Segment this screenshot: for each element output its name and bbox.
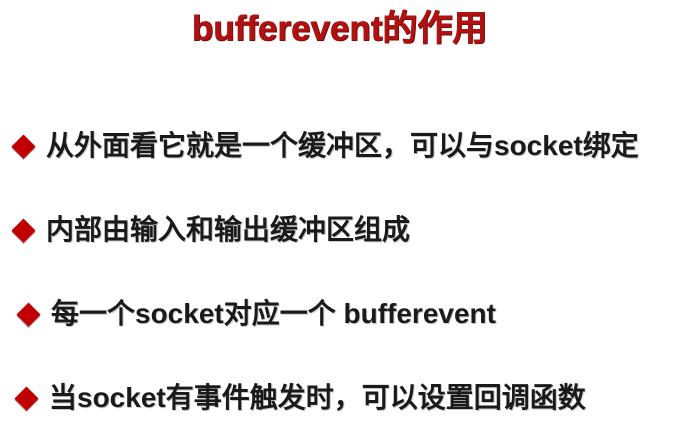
- page-title: bufferevent的作用: [0, 6, 679, 52]
- list-item: 从外面看它就是一个缓冲区，可以与socket绑定: [0, 104, 679, 188]
- red-diamond-bullet-icon: [14, 386, 38, 410]
- list-item-label: 从外面看它就是一个缓冲区，可以与socket绑定: [46, 129, 679, 163]
- list-item-label: 每一个socket对应一个 bufferevent: [51, 297, 679, 331]
- red-diamond-bullet-icon: [16, 302, 40, 326]
- bullet-list: 从外面看它就是一个缓冲区，可以与socket绑定 内部由输入和输出缓冲区组成 每…: [0, 104, 679, 440]
- red-diamond-bullet-icon: [11, 218, 35, 242]
- list-item-label: 内部由输入和输出缓冲区组成: [46, 213, 679, 247]
- list-item: 每一个socket对应一个 bufferevent: [0, 272, 679, 356]
- red-diamond-bullet-icon: [11, 134, 35, 158]
- presentation-slide: bufferevent的作用 从外面看它就是一个缓冲区，可以与socket绑定 …: [0, 0, 679, 433]
- list-item: 内部由输入和输出缓冲区组成: [0, 188, 679, 272]
- list-item-label: 当socket有事件触发时，可以设置回调函数: [49, 381, 679, 415]
- list-item: 当socket有事件触发时，可以设置回调函数: [0, 356, 679, 440]
